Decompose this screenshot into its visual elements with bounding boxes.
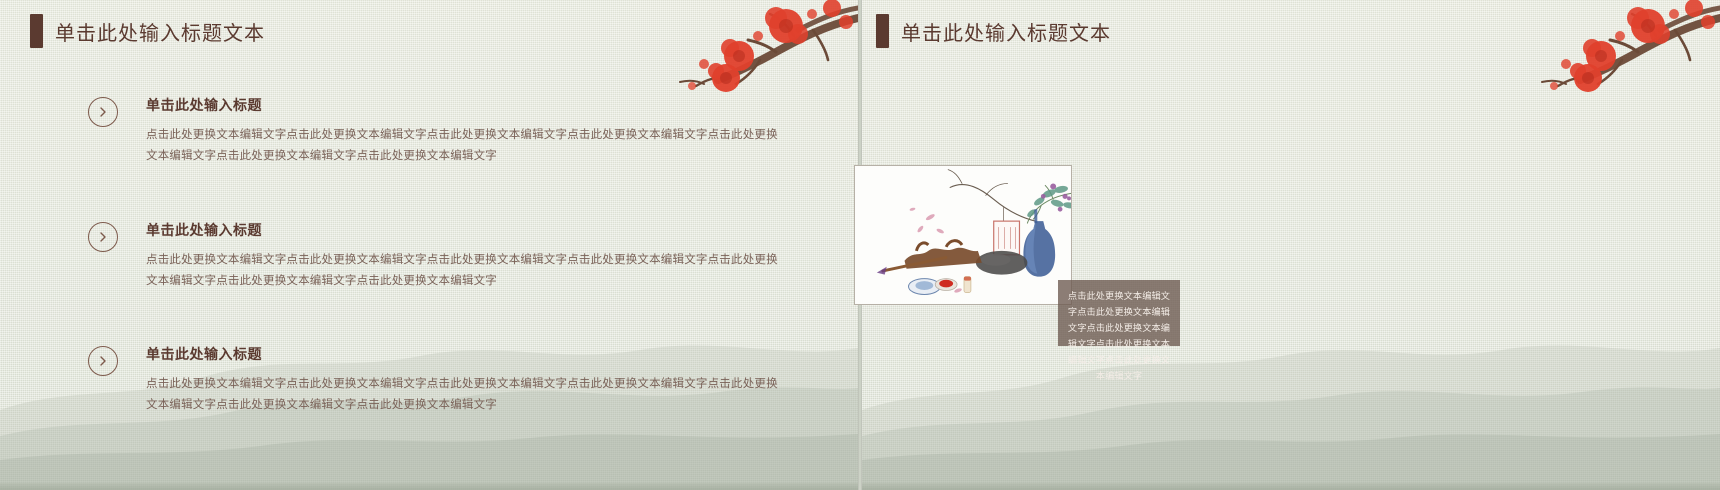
slide-right-title-row: 单击此处输入标题文本 [876,14,1111,48]
title-accent-bar [30,14,43,48]
chevron-right-icon [88,97,118,127]
list-item-title: 单击此处输入标题 [146,220,788,240]
chevron-right-icon [88,346,118,376]
slide-left: 单击此处输入标题文本 单击此处输入标题 点击此处更换文本编辑文字点击此处更换文本… [0,0,858,490]
content-image-placeholder[interactable] [854,165,1072,305]
list-item[interactable]: 单击此处输入标题 点击此处更换文本编辑文字点击此处更换文本编辑文字点击此处更换文… [88,95,788,168]
image-caption-overlay: 点击此处更换文本编辑文字点击此处更换文本编辑文字点击此处更换文本编辑文字点击此处… [1058,280,1180,346]
list-item-title: 单击此处输入标题 [146,95,788,115]
list-item[interactable]: 单击此处输入标题 点击此处更换文本编辑文字点击此处更换文本编辑文字点击此处更换文… [88,344,788,417]
list-item-body: 点击此处更换文本编辑文字点击此处更换文本编辑文字点击此处更换文本编辑文字点击此处… [146,125,788,168]
bullet-list: 单击此处输入标题 点击此处更换文本编辑文字点击此处更换文本编辑文字点击此处更换文… [88,95,788,469]
list-item-body: 点击此处更换文本编辑文字点击此处更换文本编辑文字点击此处更换文本编辑文字点击此处… [146,250,788,293]
list-item-body: 点击此处更换文本编辑文字点击此处更换文本编辑文字点击此处更换文本编辑文字点击此处… [146,374,788,417]
plum-blossom-decor-left [608,0,858,100]
title-accent-bar [876,14,889,48]
list-item[interactable]: 单击此处输入标题 点击此处更换文本编辑文字点击此处更换文本编辑文字点击此处更换文… [88,220,788,293]
bottom-band [0,483,858,490]
slide-left-title-row: 单击此处输入标题文本 [30,14,265,48]
plum-blossom-decor-right [1470,0,1720,100]
list-item-title: 单击此处输入标题 [146,344,788,364]
page-title: 单击此处输入标题文本 [901,17,1111,46]
chevron-right-icon [88,222,118,252]
page-title: 单击此处输入标题文本 [55,17,265,46]
bottom-band [862,483,1720,490]
